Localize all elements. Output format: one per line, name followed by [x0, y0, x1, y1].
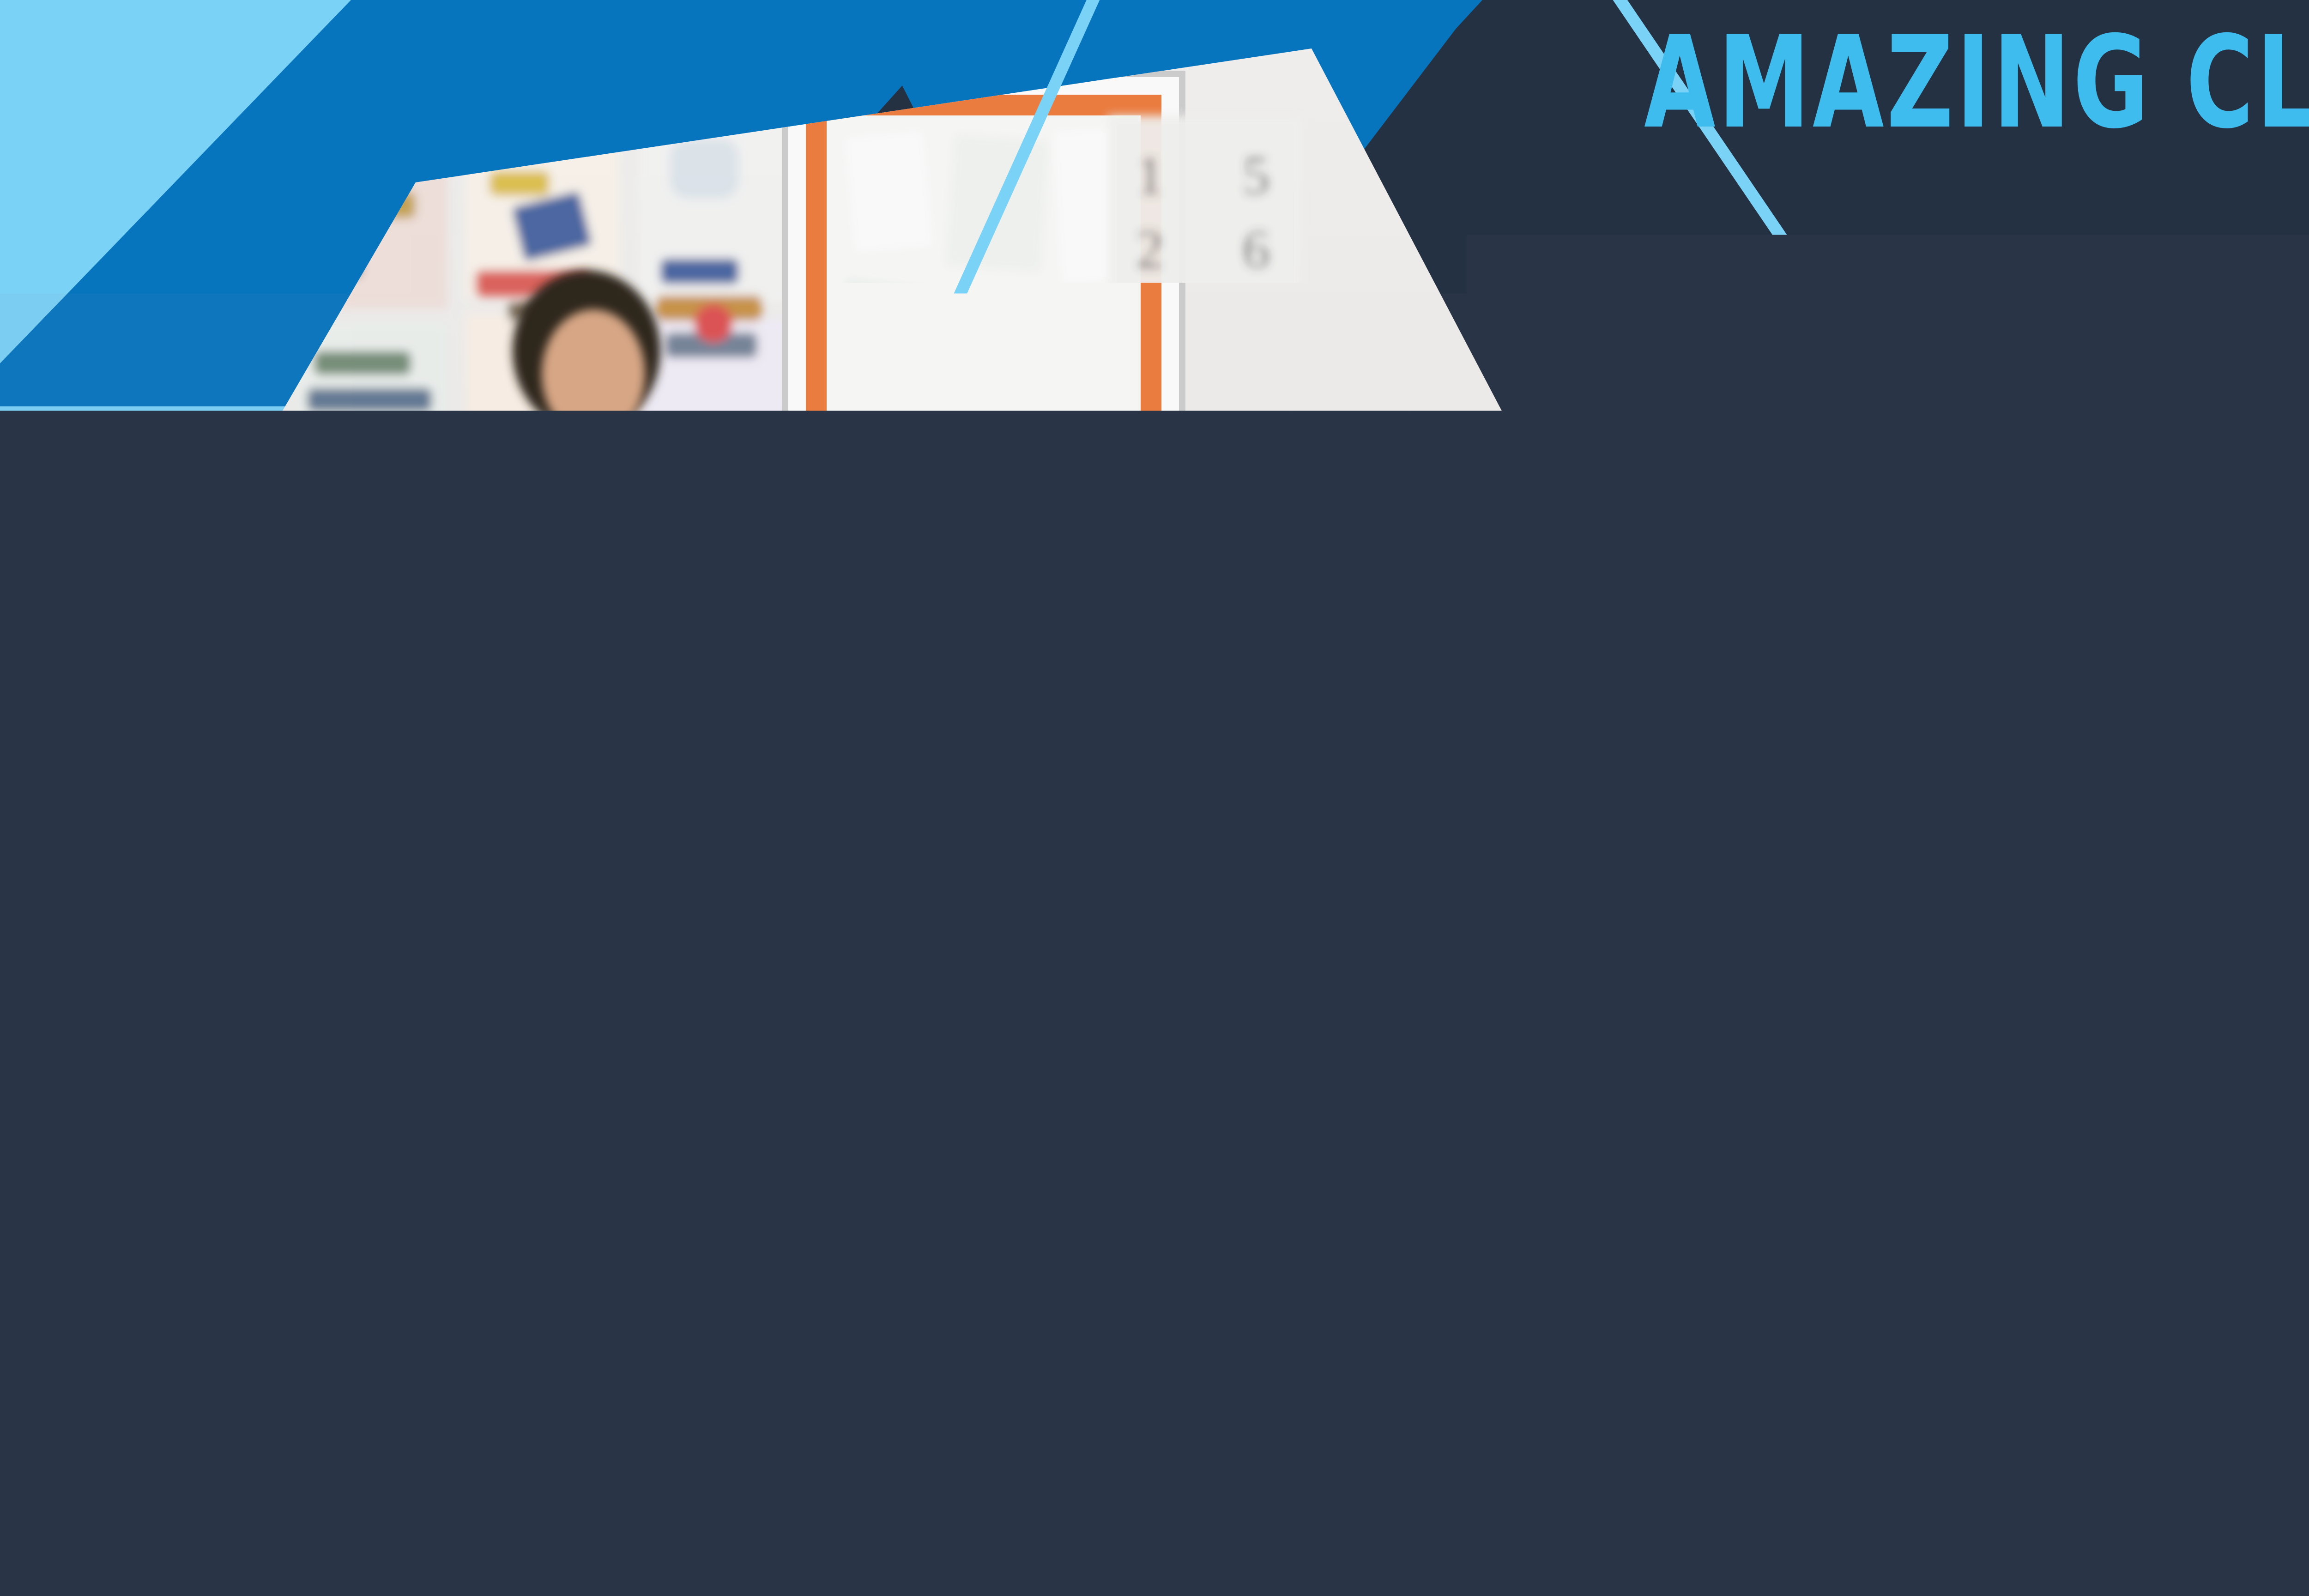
- banner-title: AMAZING CLASS: [1644, 8, 2309, 157]
- headline-line-3: TO WIN!!!!: [1828, 858, 2309, 1015]
- headline-block: CHALLENGES FUEL OUR DETERMINATION TO WIN…: [1681, 545, 2309, 1015]
- stripe-blue-bottomright: [1930, 1339, 2309, 1596]
- promo-banner: 1 2 3 4 5 6 7 8: [0, 0, 2309, 1596]
- headline-line-2: OUR DETERMINATION: [1828, 701, 2309, 858]
- headline-line-1: CHALLENGES FUEL: [1828, 545, 2309, 701]
